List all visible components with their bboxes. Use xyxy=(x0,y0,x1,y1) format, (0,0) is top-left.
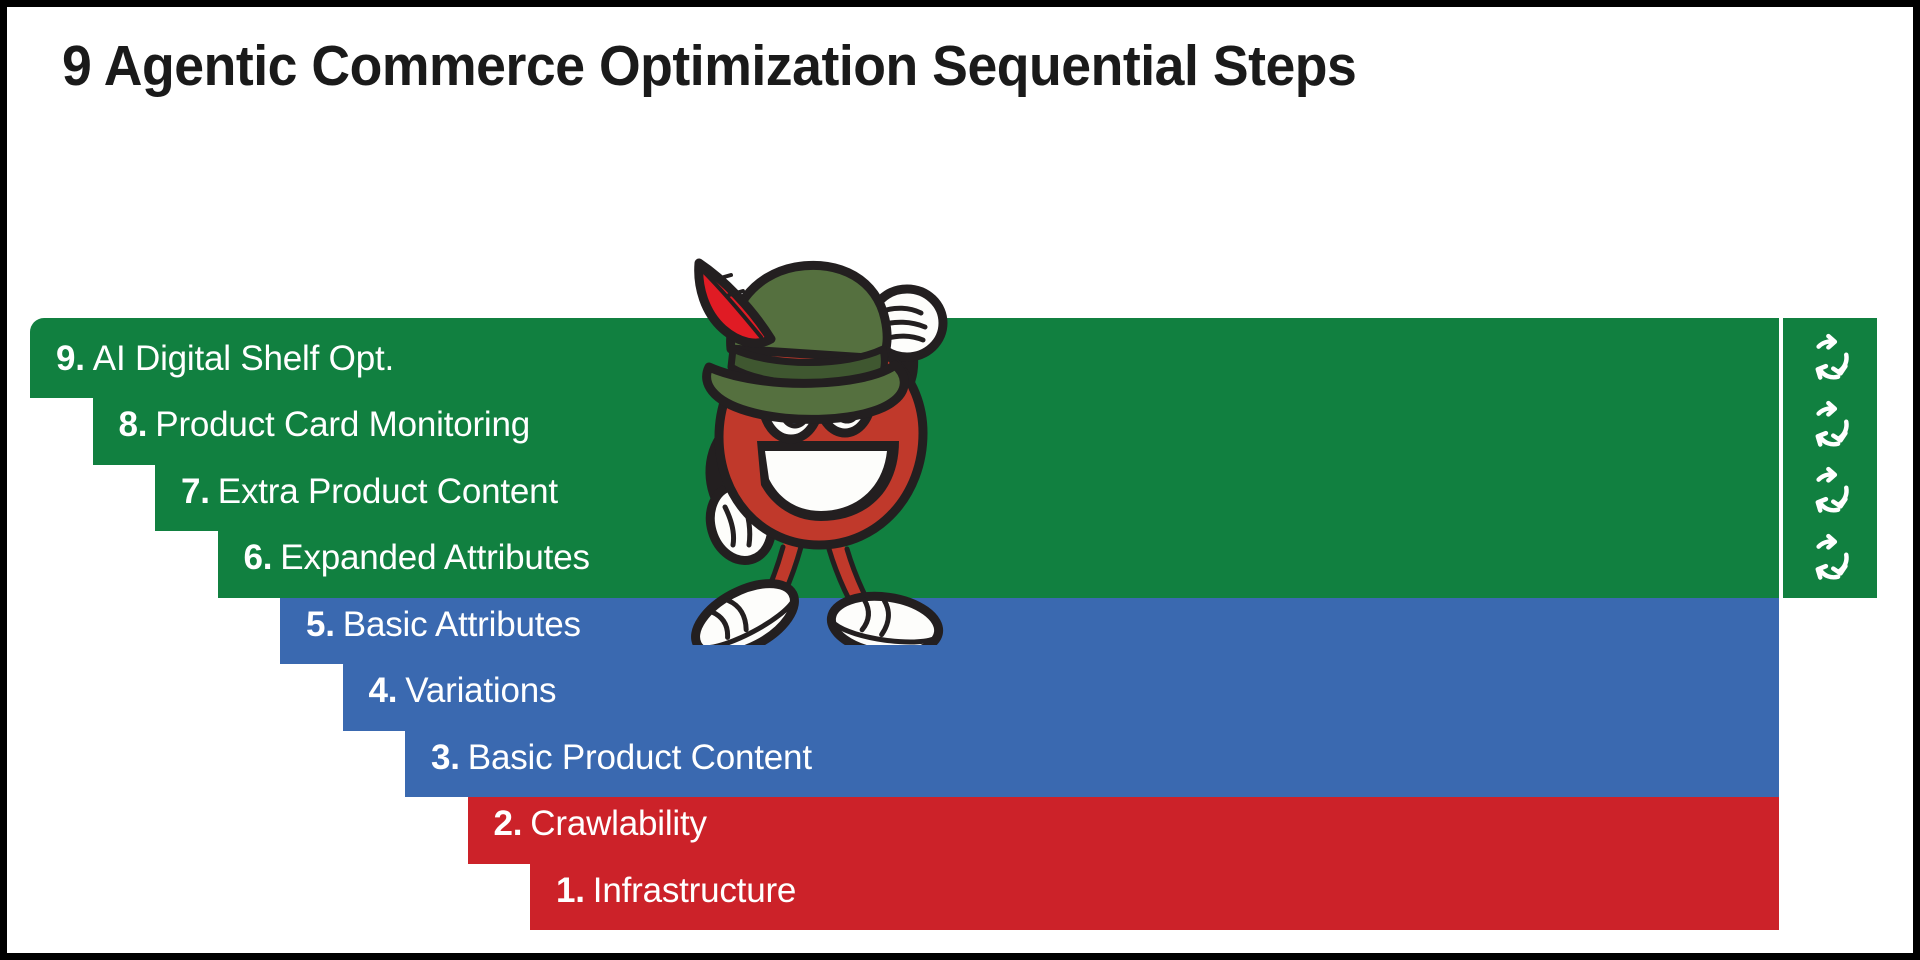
step-title: Crawlability xyxy=(530,804,707,843)
step-label: 3.Basic Product Content xyxy=(431,740,812,775)
step-title: Variations xyxy=(405,671,556,710)
step-number: 6. xyxy=(244,538,273,577)
walking-e-character-mascot xyxy=(669,245,969,645)
step-title: Basic Attributes xyxy=(343,605,581,644)
cycle-refresh-icon[interactable] xyxy=(1783,318,1877,398)
step-number: 1. xyxy=(556,871,585,910)
step-number: 2. xyxy=(494,804,523,843)
step-number: 9. xyxy=(56,339,85,378)
step-number: 3. xyxy=(431,738,460,777)
step-title: Product Card Monitoring xyxy=(155,405,530,444)
step-label: 7.Extra Product Content xyxy=(181,474,558,509)
step-label: 4.Variations xyxy=(369,673,557,708)
step-label: 8.Product Card Monitoring xyxy=(119,407,531,442)
step-title: Infrastructure xyxy=(593,871,796,910)
step-number: 5. xyxy=(306,605,335,644)
step-label: 5.Basic Attributes xyxy=(306,607,581,642)
step-title: Expanded Attributes xyxy=(280,538,589,577)
step-label: 2.Crawlability xyxy=(494,806,707,841)
step-label: 6.Expanded Attributes xyxy=(244,540,590,575)
slide-canvas: 9 Agentic Commerce Optimization Sequenti… xyxy=(0,0,1920,960)
step-number: 7. xyxy=(181,472,210,511)
step-number: 4. xyxy=(369,671,398,710)
step-title: AI Digital Shelf Opt. xyxy=(93,339,394,378)
step-title: Extra Product Content xyxy=(218,472,558,511)
step-number: 8. xyxy=(119,405,148,444)
step-label: 1.Infrastructure xyxy=(556,873,796,908)
step-label: 9.AI Digital Shelf Opt. xyxy=(56,341,394,376)
step-title: Basic Product Content xyxy=(468,738,812,777)
